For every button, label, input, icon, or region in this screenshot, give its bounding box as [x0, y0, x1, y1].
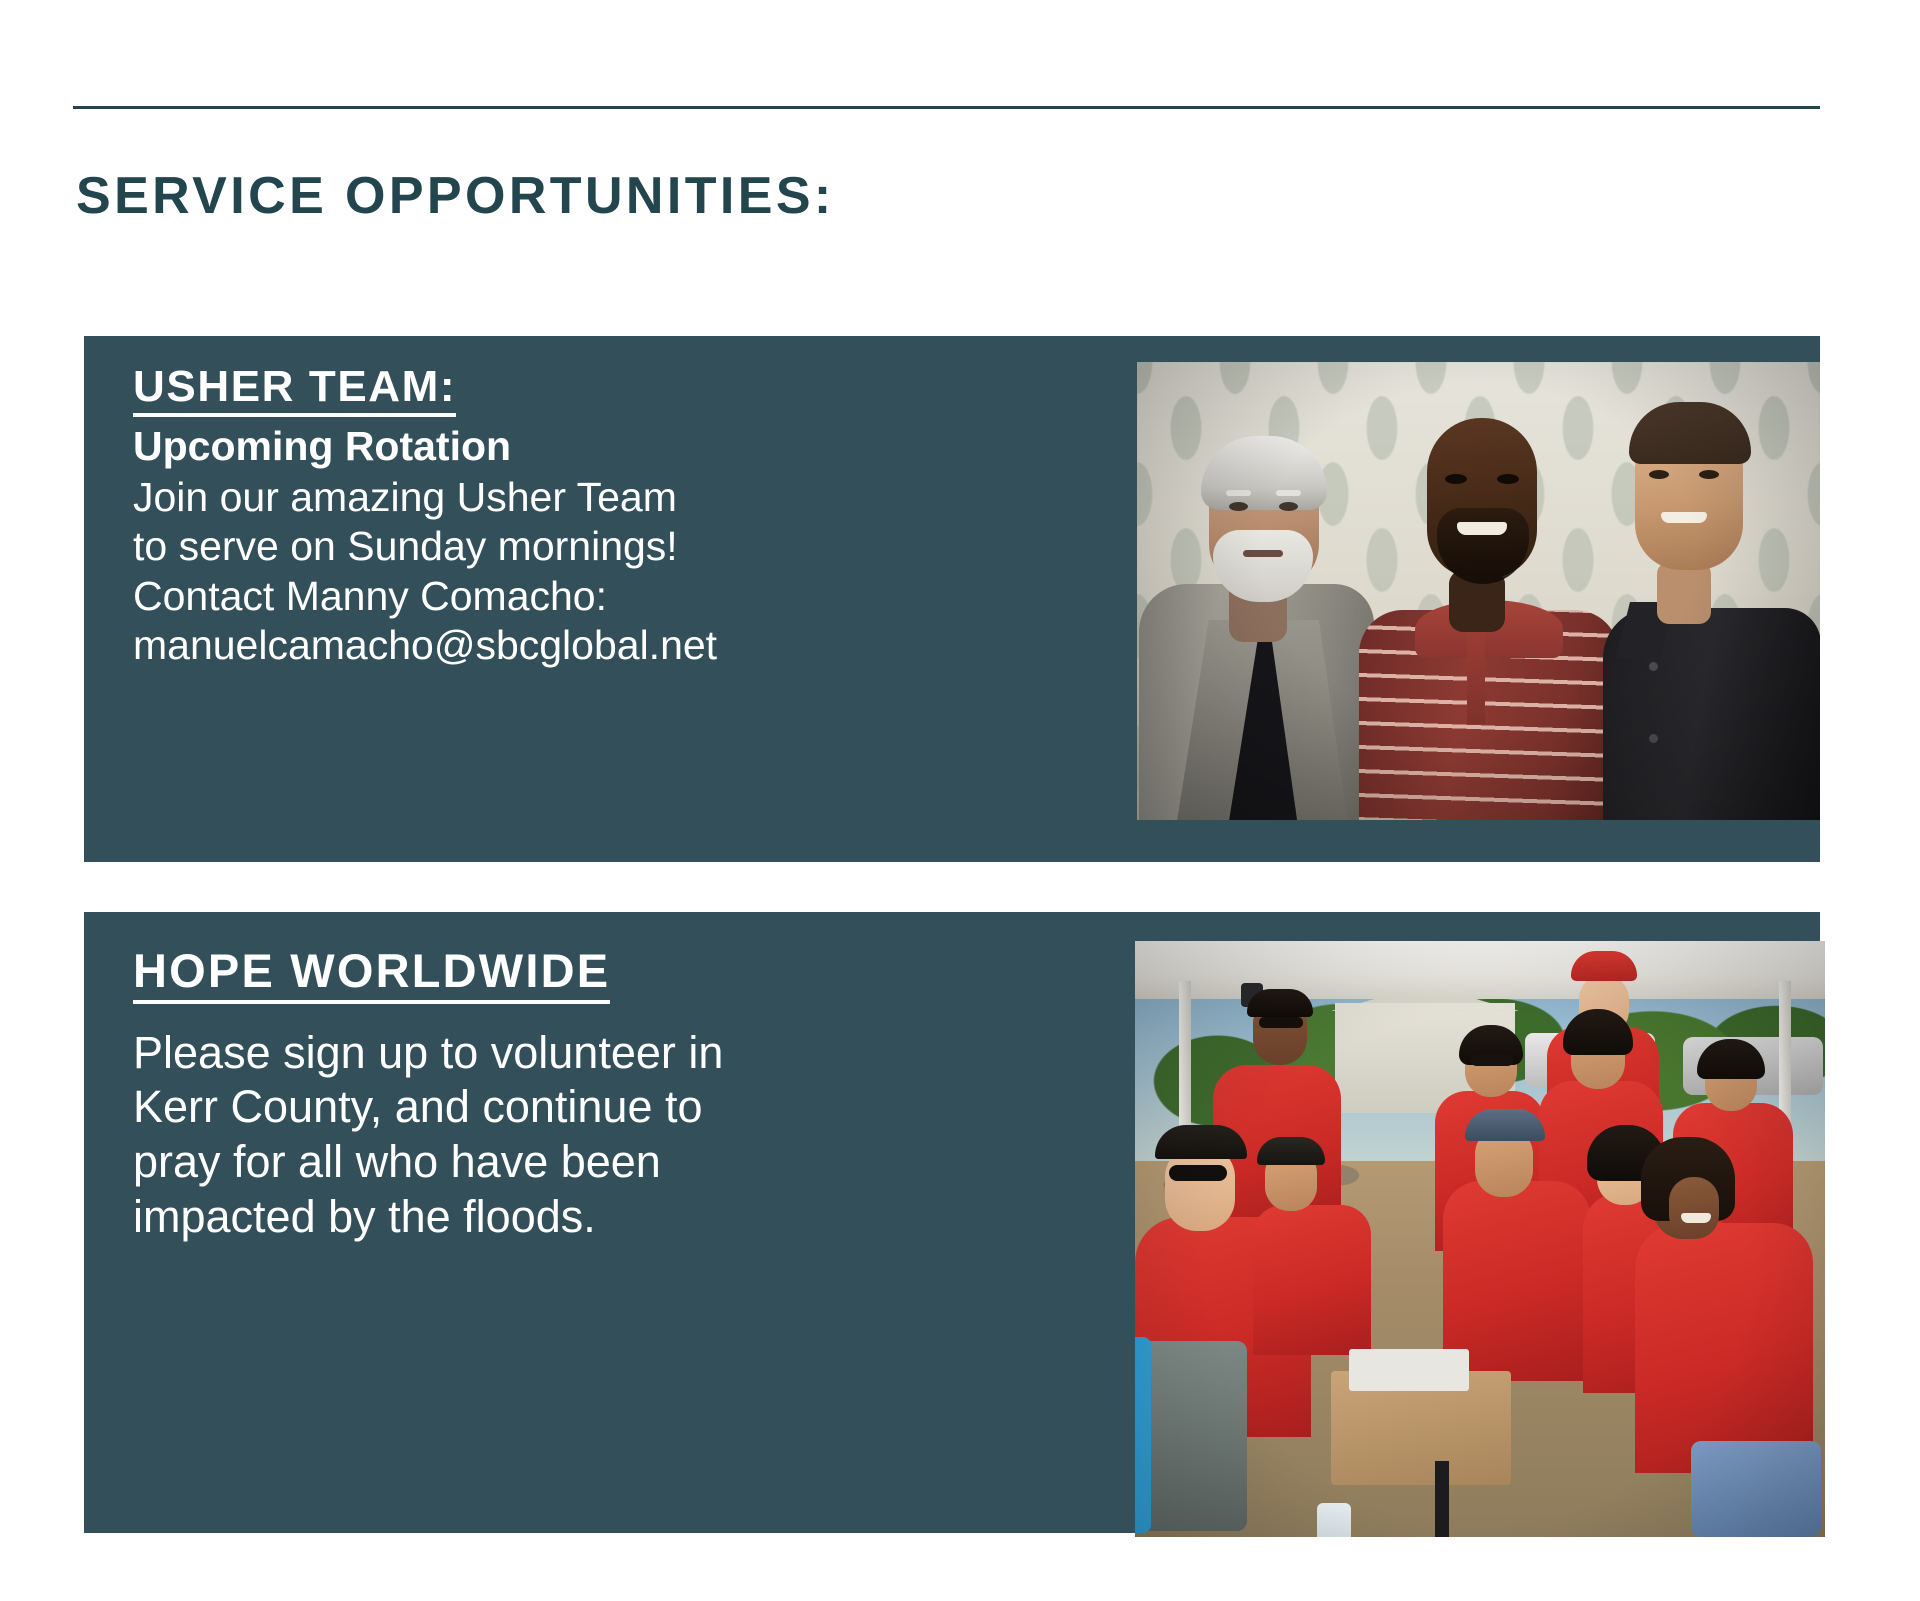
photo-vignette-overlay	[1137, 362, 1820, 820]
usher-team-body-line-2: to serve on Sunday mornings!	[133, 522, 717, 571]
usher-team-body-line-1: Join our amazing Usher Team	[133, 473, 717, 522]
hope-worldwide-body-line-3: pray for all who have been	[133, 1135, 723, 1190]
service-card-hope-worldwide: HOPE WORLDWIDE Please sign up to volunte…	[84, 912, 1820, 1533]
hope-worldwide-body: Please sign up to volunteer in Kerr Coun…	[133, 1026, 723, 1246]
top-divider-rule	[73, 106, 1820, 109]
hope-worldwide-body-line-4: impacted by the floods.	[133, 1190, 723, 1245]
usher-team-text-block: USHER TEAM: Upcoming Rotation Join our a…	[133, 361, 717, 671]
usher-team-photo	[1137, 362, 1820, 820]
usher-team-body: Join our amazing Usher Team to serve on …	[133, 473, 717, 671]
usher-team-body-line-3: Contact Manny Comacho:	[133, 572, 717, 621]
service-card-usher-team: USHER TEAM: Upcoming Rotation Join our a…	[84, 336, 1820, 862]
hope-worldwide-text-block: HOPE WORLDWIDE Please sign up to volunte…	[133, 944, 723, 1245]
hope-worldwide-photo	[1135, 941, 1825, 1537]
photo-vignette-overlay-2	[1135, 941, 1825, 1537]
usher-team-subheading: Upcoming Rotation	[133, 424, 717, 470]
usher-team-heading: USHER TEAM:	[133, 361, 456, 417]
usher-team-contact-email[interactable]: manuelcamacho@sbcglobal.net	[133, 621, 717, 670]
hope-worldwide-body-line-1: Please sign up to volunteer in	[133, 1026, 723, 1081]
hope-worldwide-body-line-2: Kerr County, and continue to	[133, 1080, 723, 1135]
page-title: SERVICE OPPORTUNITIES:	[76, 166, 835, 226]
hope-worldwide-heading: HOPE WORLDWIDE	[133, 944, 610, 1004]
